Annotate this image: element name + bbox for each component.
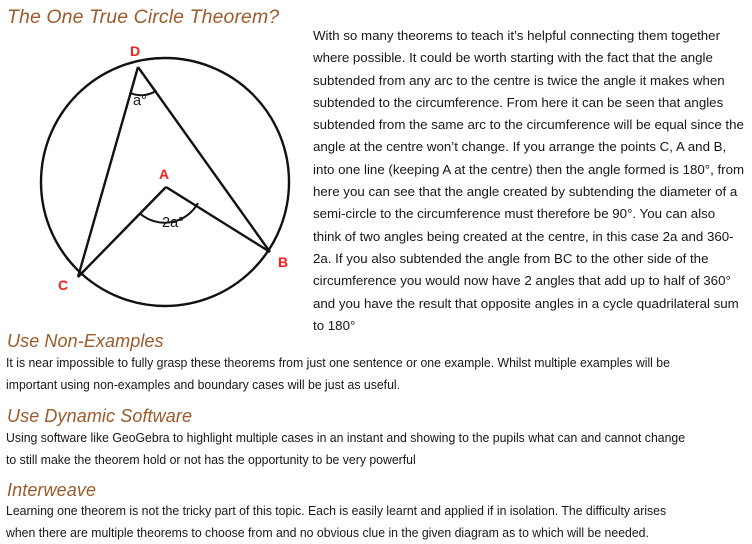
angle-label-a: a° <box>133 93 147 109</box>
intro-paragraph: With so many theorems to teach it’s help… <box>313 25 745 337</box>
point-label-d: D <box>130 43 140 59</box>
section-body-use-dynamic-software: Using software like GeoGebra to highligh… <box>6 427 696 471</box>
point-label-a: A <box>159 166 169 182</box>
circle-outline <box>41 58 289 306</box>
circle-theorem-diagram: D A B C a° 2a° <box>0 30 310 330</box>
document-page: The One True Circle Theorem? D A B C a° … <box>0 0 752 544</box>
section-heading-interweave: Interweave <box>7 479 96 501</box>
segment-d-b <box>138 67 270 252</box>
section-heading-use-dynamic-software: Use Dynamic Software <box>7 405 192 427</box>
section-body-use-non-examples: It is near impossible to fully grasp the… <box>6 352 696 396</box>
section-heading-use-non-examples: Use Non-Examples <box>7 330 164 352</box>
page-title: The One True Circle Theorem? <box>7 5 279 29</box>
section-body-interweave: Learning one theorem is not the tricky p… <box>6 500 696 544</box>
point-label-b: B <box>278 254 288 270</box>
angle-label-2a: 2a° <box>162 215 184 231</box>
point-label-c: C <box>58 277 68 293</box>
